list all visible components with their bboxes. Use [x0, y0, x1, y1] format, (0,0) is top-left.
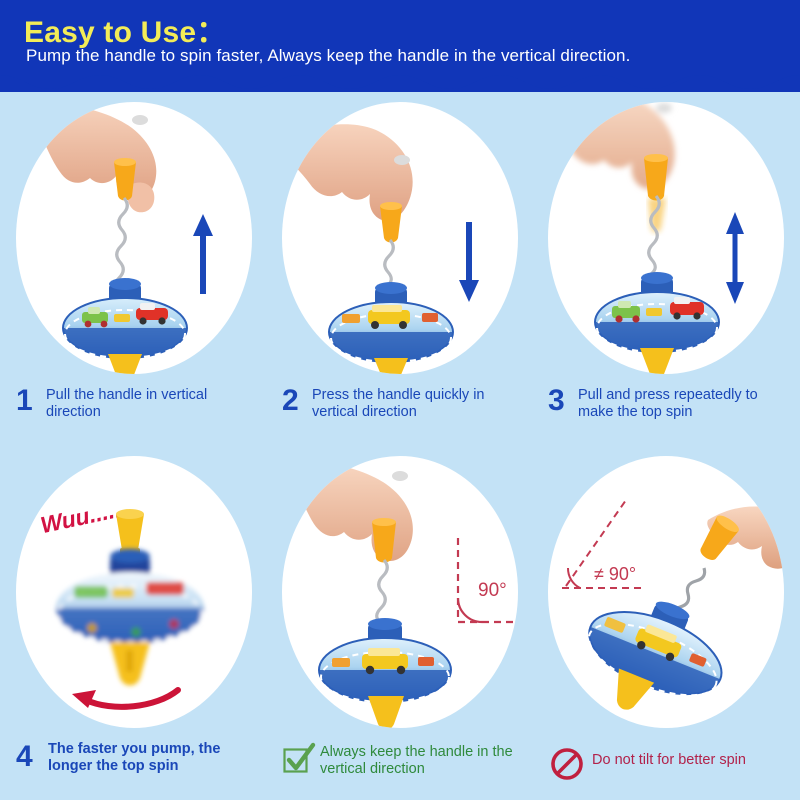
step-caption-2: 2 Press the handle quickly in vertical d…: [278, 384, 532, 440]
step-text-2: Press the handle quickly in vertical dir…: [312, 387, 530, 420]
step-text-1: Pull the handle in vertical direction: [46, 387, 264, 420]
step-image-1: [16, 102, 252, 374]
wave-divider: [0, 67, 800, 93]
step-caption-3: 3 Pull and press repeatedly to make the …: [544, 384, 798, 440]
illustration-tilted: ≠ 90°: [548, 456, 784, 728]
hand-graphic: [292, 463, 413, 561]
arrow-curved-left-icon: [72, 690, 178, 708]
step-number-3: 3: [548, 386, 565, 416]
step-text-4: The faster you pump, the longer the top …: [48, 741, 266, 774]
handle-graphic: [380, 202, 402, 243]
step-image-3: [548, 102, 784, 374]
step-panel-3: 3 Pull and press repeatedly to make the …: [532, 92, 798, 446]
note-image-tilt: ≠ 90°: [548, 456, 784, 728]
hand-graphic: [36, 102, 156, 212]
step-number-4: 4: [16, 742, 33, 772]
instruction-page: Easy to Use： Pump the handle to spin fas…: [0, 0, 800, 800]
steps-grid: 1 Pull the handle in vertical direction: [0, 92, 800, 800]
step-panel-1: 1 Pull the handle in vertical direction: [0, 92, 266, 446]
step-caption-1: 1 Pull the handle in vertical direction: [12, 384, 266, 440]
step-caption-4: 4 The faster you pump, the longer the to…: [12, 738, 266, 794]
spiral-shaft: [385, 240, 394, 286]
illustration-vertical-90: 90°: [282, 456, 518, 728]
illustration-press-down: [282, 102, 518, 374]
checkbox-checked-icon: [282, 742, 316, 776]
spinning-top-graphic: [56, 549, 204, 686]
step-image-4: Wuu......: [16, 456, 252, 728]
step-image-2: [282, 102, 518, 374]
handle-graphic: [644, 154, 668, 233]
note-text-vertical: Always keep the handle in the vertical d…: [320, 744, 530, 777]
page-subtitle: Pump the handle to spin faster, Always k…: [26, 46, 630, 66]
spiral-shaft: [115, 198, 128, 292]
angle-90-label: 90°: [478, 580, 507, 601]
illustration-spinning: Wuu......: [16, 456, 252, 728]
step-text-3: Pull and press repeatedly to make the to…: [578, 387, 796, 420]
spinning-top-graphic: [63, 278, 187, 374]
sound-text: Wuu......: [38, 495, 129, 539]
note-vertical: Always keep the handle in the vertical d…: [274, 738, 532, 794]
arrow-up-down-icon: [726, 212, 744, 304]
step-number-1: 1: [16, 386, 33, 416]
spiral-shaft: [377, 560, 388, 622]
note-image-vertical: 90°: [282, 456, 518, 728]
note-panel-vertical: 90° Always keep the handle in the vertic…: [266, 446, 532, 800]
note-panel-tilt: ≠ 90°: [532, 446, 798, 800]
spinning-top-graphic: [595, 272, 719, 374]
page-header: Easy to Use： Pump the handle to spin fas…: [0, 0, 800, 92]
illustration-repeat: [548, 102, 784, 374]
step-panel-2: 2 Press the handle quickly in vertical d…: [266, 92, 532, 446]
spinning-top-graphic: [566, 579, 739, 728]
angle-not-90-label: ≠ 90°: [594, 564, 636, 584]
arrow-up-icon: [193, 214, 213, 294]
illustration-pull-up: [16, 102, 252, 374]
arrow-down-icon: [459, 222, 479, 302]
page-title: Easy to Use：: [24, 7, 226, 51]
note-text-tilt: Do not tilt for better spin: [592, 752, 800, 769]
prohibition-icon: [550, 747, 584, 781]
step-number-2: 2: [282, 386, 299, 416]
note-tilt: Do not tilt for better spin: [540, 738, 798, 794]
spinning-top-graphic: [329, 282, 453, 374]
step-panel-4: Wuu......: [0, 446, 266, 800]
sound-label: Wuu......: [38, 495, 129, 539]
spinning-top-graphic: [319, 618, 451, 728]
angle-90-marker: 90°: [458, 538, 518, 622]
angle-not-90-marker: ≠ 90°: [562, 500, 646, 588]
